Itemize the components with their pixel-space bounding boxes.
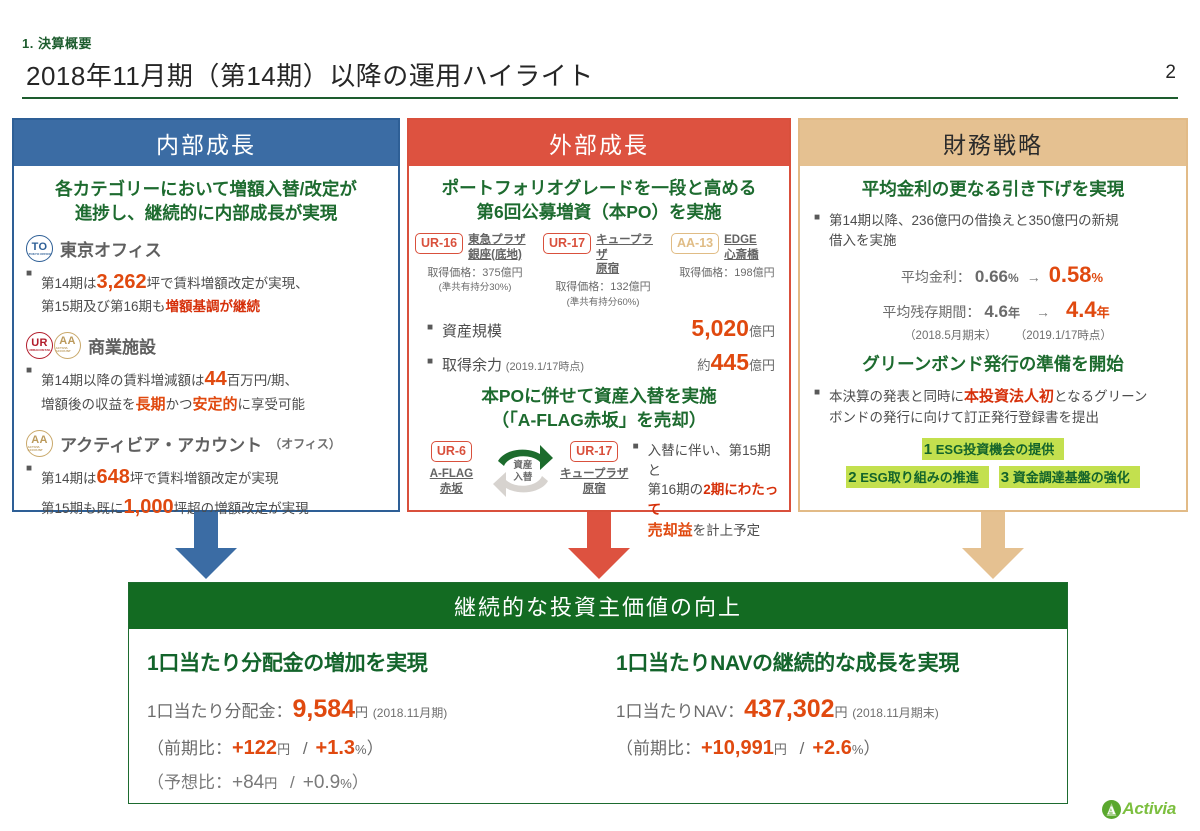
category-bullet: 第14期以降の賃料増減額は44百万円/期、 増額後の収益を長期かつ安定的に享受可… xyxy=(26,364,388,417)
category-bullet: 第14期は3,262坪で賃料増額改定が実現、 第15期及び第16期も増額基調が継… xyxy=(26,267,388,317)
swap-node-from: UR-6 A-FLAG 赤坂 xyxy=(417,441,486,497)
finance-date-row: （2018.5月期末） （2019.1/17時点） xyxy=(800,327,1186,343)
property-name: キュープラザ 原宿 xyxy=(596,233,663,276)
esg-item: 3 資金調達基盤の強化 xyxy=(999,466,1140,488)
property-head: UR-16 東急プラザ 銀座(底地) xyxy=(415,233,535,262)
seal-aa-icon: AA ACTIVIA ACCOUNT xyxy=(54,332,81,359)
down-arrow-external-icon xyxy=(566,512,632,580)
down-arrow-finance-icon xyxy=(960,512,1026,580)
seal-to-icon: TO TOKYO OFFICE xyxy=(26,235,53,262)
property-code-badge: AA-13 xyxy=(671,233,719,254)
esg-item: 1 ESG投資機会の提供 xyxy=(922,438,1064,460)
metric-label: 取得余力 (2019.1/17時点) xyxy=(427,355,697,378)
panel-investor-value-body: 1口当たり分配金の増加を実現 1口当たり分配金：9,584円 (2018.11月… xyxy=(129,629,1067,803)
finance-date-new: （2019.1/17時点） xyxy=(1015,327,1112,343)
category-tokyo-office: TO TOKYO OFFICE 東京オフィス 第14期は3,262坪で賃料増額改… xyxy=(14,225,398,317)
arrow-right-icon: → xyxy=(1024,304,1062,320)
finance-rate-row: 平均金利： 0.66% → 0.58% xyxy=(800,262,1186,288)
category-retail: UR URBAN RETAIL AA ACTIVIA ACCOUNT 商業施設 … xyxy=(14,318,398,417)
property-card: AA-13 EDGE 心斎橋 取得価格：198億円 xyxy=(671,233,783,309)
property-price: 取得価格：375億円 (準共有持分30%) xyxy=(415,266,535,295)
property-head: UR-17 キュープラザ 原宿 xyxy=(543,233,663,276)
property-name: 東急プラザ 銀座(底地) xyxy=(468,233,526,262)
finance-duration-row: 平均残存期間： 4.6年 → 4.4年 xyxy=(800,297,1186,323)
property-name: キュープラザ 原宿 xyxy=(560,467,629,497)
panel-financial-strategy-body: 平均金利の更なる引き下げを実現 第14期以降、236億円の借換えと350億円の新… xyxy=(800,166,1186,514)
metric-value: 5,020億円 xyxy=(691,315,775,342)
category-label: 商業施設 xyxy=(88,333,156,358)
section-kicker: 1. 決算概要 xyxy=(22,33,92,52)
swap-bullet: 入替に伴い、第15期と 第16期の2期にわたって 売却益を計上予定 xyxy=(633,441,781,541)
distribution-main-row: 1口当たり分配金：9,584円 (2018.11月期) xyxy=(147,695,598,724)
finance-bullet-2: 本決算の発表と同時に本投資法人初となるグリーン ボンドの発行に向けて訂正発行登録… xyxy=(814,386,1176,429)
activia-logo: A Activia xyxy=(1102,799,1176,819)
external-metrics: 資産規模 5,020億円 取得余力 (2019.1/17時点) 約445億円 xyxy=(409,309,789,377)
finance-date-old: （2018.5月期末） xyxy=(904,327,997,343)
property-code-badge: UR-6 xyxy=(431,441,472,462)
seal-ur-icon: UR URBAN RETAIL xyxy=(26,332,53,359)
acquired-property-list: UR-16 東急プラザ 銀座(底地) 取得価格：375億円 (準共有持分30%)… xyxy=(409,233,789,309)
external-lead: ポートフォリオグレードを一段と高める 第6回公募増資（本PO）を実施 xyxy=(409,166,789,224)
category-label: 東京オフィス xyxy=(60,236,162,261)
panel-investor-value: 継続的な投資主価値の向上 1口当たり分配金の増加を実現 1口当たり分配金：9,5… xyxy=(128,582,1068,804)
distribution-title: 1口当たり分配金の増加を実現 xyxy=(147,647,598,677)
panel-financial-strategy-heading: 財務戦略 xyxy=(800,120,1186,166)
panel-investor-value-heading: 継続的な投資主価値の向上 xyxy=(129,583,1067,629)
seal-aa-icon: AA ACTIVIA ACCOUNT xyxy=(26,430,53,457)
panel-internal-growth-body: 各カテゴリーにおいて増額入替/改定が 進捗し、継続的に内部成長が実現 TO TO… xyxy=(14,166,398,514)
arrow-right-icon: → xyxy=(1023,269,1045,285)
panel-financial-strategy: 財務戦略 平均金利の更なる引き下げを実現 第14期以降、236億円の借換えと35… xyxy=(798,118,1188,512)
swap-node-to: UR-17 キュープラザ 原宿 xyxy=(560,441,629,497)
esg-item-row-2: 2 ESG取り組みの推進 3 資金調達基盤の強化 xyxy=(800,466,1186,488)
property-code-badge: UR-17 xyxy=(570,441,618,462)
category-header: UR URBAN RETAIL AA ACTIVIA ACCOUNT 商業施設 xyxy=(26,332,388,359)
esg-item: 2 ESG取り組みの推進 xyxy=(846,466,988,488)
metric-row: 取得余力 (2019.1/17時点) 約445億円 xyxy=(427,349,775,378)
finance-duration-label: 平均残存期間： xyxy=(882,302,980,322)
page-number: 2 xyxy=(1165,62,1176,84)
title-divider xyxy=(22,97,1178,99)
category-header: TO TOKYO OFFICE 東京オフィス xyxy=(26,235,388,262)
nav-main-row: 1口当たりNAV：437,302円 (2018.11月期末) xyxy=(616,695,1067,724)
panel-external-growth-body: ポートフォリオグレードを一段と高める 第6回公募増資（本PO）を実施 UR-16… xyxy=(409,166,789,514)
property-head: AA-13 EDGE 心斎橋 xyxy=(671,233,783,262)
metric-value: 約445億円 xyxy=(697,349,775,376)
svg-text:A: A xyxy=(1108,803,1117,817)
slide-header: 1. 決算概要 2018年11月期（第14期）以降の運用ハイライト 2 xyxy=(0,0,1200,100)
category-sublabel: （オフィス） xyxy=(269,435,341,452)
nav-title: 1口当たりNAVの継続的な成長を実現 xyxy=(616,647,1067,677)
panel-external-growth: 外部成長 ポートフォリオグレードを一段と高める 第6回公募増資（本PO）を実施 … xyxy=(407,118,791,512)
property-price: 取得価格：198億円 xyxy=(671,266,783,280)
swap-cycle-label: 資産 入替 xyxy=(490,460,556,484)
finance-rate-new: 0.58% xyxy=(1049,262,1103,288)
property-name: A-FLAG 赤坂 xyxy=(417,467,486,497)
finance-rate-old: 0.66% xyxy=(975,267,1019,287)
finance-rate-label: 平均金利： xyxy=(901,267,971,287)
finance-bullet-1: 第14期以降、236億円の借換えと350億円の新規 借入を実施 xyxy=(814,211,1174,252)
distribution-yoy-row: （前期比：+122円 /+1.3%） xyxy=(147,734,598,760)
category-activia-account: AA ACTIVIA ACCOUNT アクティビア・アカウント （オフィス） 第… xyxy=(14,416,398,522)
down-arrow-internal-icon xyxy=(173,512,239,580)
nav-yoy-row: （前期比：+10,991円 /+2.6%） xyxy=(616,734,1067,760)
logo-text: Activia xyxy=(1122,799,1176,819)
finance-duration-new: 4.4年 xyxy=(1066,297,1110,323)
seal-group: UR URBAN RETAIL AA ACTIVIA ACCOUNT xyxy=(26,332,81,359)
property-price: 取得価格：132億円 (準共有持分60%) xyxy=(543,280,663,309)
metric-label: 資産規模 xyxy=(427,321,691,344)
panel-internal-growth: 内部成長 各カテゴリーにおいて増額入替/改定が 進捗し、継続的に内部成長が実現 … xyxy=(12,118,400,512)
panel-internal-growth-heading: 内部成長 xyxy=(14,120,398,166)
esg-item-row-1: 1 ESG投資機会の提供 xyxy=(800,438,1186,460)
logo-leaf-icon: A xyxy=(1102,800,1121,819)
metric-row: 資産規模 5,020億円 xyxy=(427,315,775,344)
property-card: UR-16 東急プラザ 銀座(底地) 取得価格：375億円 (準共有持分30%) xyxy=(415,233,535,309)
category-header: AA ACTIVIA ACCOUNT アクティビア・アカウント （オフィス） xyxy=(26,430,388,457)
property-code-badge: UR-16 xyxy=(415,233,463,254)
category-label: アクティビア・アカウント xyxy=(60,431,262,456)
finance-duration-old: 4.6年 xyxy=(984,302,1020,322)
internal-lead: 各カテゴリーにおいて増額入替/改定が 進捗し、継続的に内部成長が実現 xyxy=(14,166,398,225)
finance-lead-2: グリーンボンド発行の準備を開始 xyxy=(800,343,1186,377)
panel-external-growth-heading: 外部成長 xyxy=(409,120,789,166)
nav-column: 1口当たりNAVの継続的な成長を実現 1口当たりNAV：437,302円 (20… xyxy=(598,629,1067,803)
swap-lead: 本POに併せて資産入替を実施 （「A-FLAG赤坂」を売却） xyxy=(409,377,789,432)
finance-lead-1: 平均金利の更なる引き下げを実現 xyxy=(800,166,1186,202)
property-code-badge: UR-17 xyxy=(543,233,591,254)
swap-cycle-arrows-icon: 資産 入替 xyxy=(490,441,556,503)
distribution-forecast-row: （予想比：+84円 /+0.9%） xyxy=(147,768,598,794)
property-card: UR-17 キュープラザ 原宿 取得価格：132億円 (準共有持分60%) xyxy=(543,233,663,309)
page-title: 2018年11月期（第14期）以降の運用ハイライト xyxy=(26,56,594,93)
property-name: EDGE 心斎橋 xyxy=(724,233,759,262)
distribution-column: 1口当たり分配金の増加を実現 1口当たり分配金：9,584円 (2018.11月… xyxy=(129,629,598,803)
